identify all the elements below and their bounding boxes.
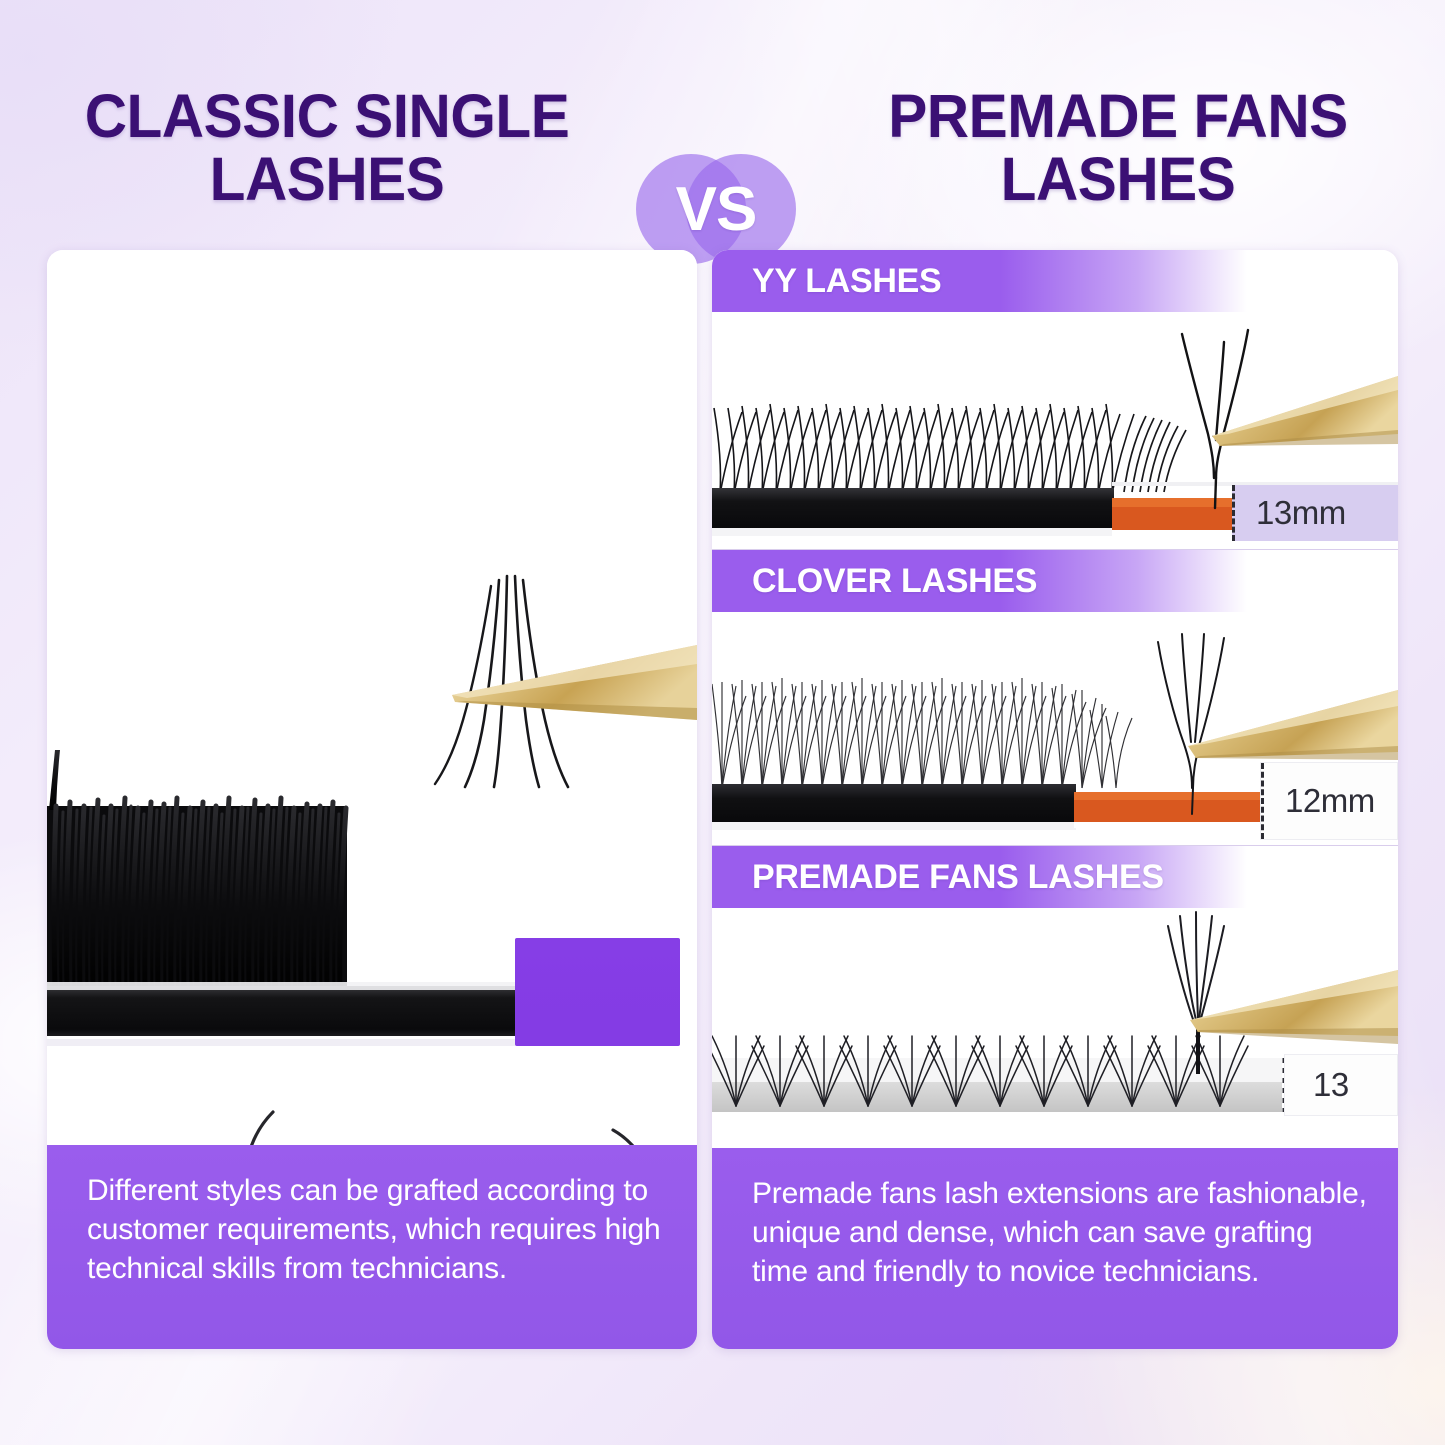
classic-lash-artwork <box>47 250 697 1145</box>
page-header: CLASSIC SINGLE LASHES VS PREMADE FANS LA… <box>0 60 1445 235</box>
yy-strip-band <box>712 488 1114 532</box>
left-title: CLASSIC SINGLE LASHES <box>58 60 596 235</box>
card-premade-fans-lashes[interactable]: PREMADE FANS LASHES <box>712 845 1398 1143</box>
measure-dash-line <box>1261 763 1264 839</box>
card-clover-lashes[interactable]: CLOVER LASHES <box>712 549 1398 845</box>
yy-lash-end <box>1124 416 1186 492</box>
premade-measurement-value: 13 <box>1313 1066 1349 1104</box>
premade-foam-strip <box>712 1080 1282 1112</box>
right-title-line2: LASHES <box>1001 148 1236 211</box>
card-yy-lashes[interactable]: YY LASHES <box>712 250 1398 549</box>
measure-dash-line <box>1232 485 1235 541</box>
tweezer-icon <box>1188 690 1398 760</box>
yy-measurement-tag: 13mm <box>1232 485 1398 541</box>
clover-measurement-tag: 12mm <box>1260 762 1398 840</box>
left-title-line1: CLASSIC SINGLE <box>85 85 570 148</box>
premade-measurement-tag: 13 <box>1284 1054 1398 1116</box>
yy-lash-strokes <box>714 404 1134 494</box>
card-premade-fans-art: 13 <box>712 908 1398 1143</box>
clover-single-lash <box>1158 634 1224 814</box>
premade-single-fan <box>1168 912 1224 1022</box>
clover-measurement-value: 12mm <box>1285 782 1375 820</box>
card-clover-lashes-title: CLOVER LASHES <box>712 550 1398 612</box>
left-title-line2: LASHES <box>210 148 445 211</box>
premade-fans-panel[interactable]: YY LASHES <box>712 250 1398 1349</box>
card-yy-lashes-art: 13mm <box>712 312 1398 549</box>
clover-strip-band <box>712 784 1076 826</box>
vs-label: VS <box>636 154 796 264</box>
curved-lash-samples <box>49 1112 697 1145</box>
card-yy-lashes-title: YY LASHES <box>712 250 1398 312</box>
tweezer-icon <box>1212 376 1398 446</box>
vs-badge: VS <box>636 154 796 264</box>
classic-single-lashes-panel[interactable]: Different styles can be grafted accordin… <box>47 250 697 1349</box>
right-title: PREMADE FANS LASHES <box>849 60 1387 235</box>
card-clover-lashes-art: 12mm <box>712 612 1398 845</box>
classic-lashes-photo <box>47 250 697 1145</box>
yy-single-lash <box>1182 330 1248 508</box>
classic-caption: Different styles can be grafted accordin… <box>47 1145 697 1349</box>
premade-caption: Premade fans lash extensions are fashion… <box>712 1148 1398 1349</box>
right-title-line1: PREMADE FANS <box>888 85 1348 148</box>
card-premade-fans-title: PREMADE FANS LASHES <box>712 846 1398 908</box>
clover-fan-mass <box>712 678 1132 788</box>
tweezer-icon <box>1190 970 1398 1044</box>
yy-measurement-value: 13mm <box>1256 494 1346 532</box>
premade-cards-container: YY LASHES <box>712 250 1398 1148</box>
